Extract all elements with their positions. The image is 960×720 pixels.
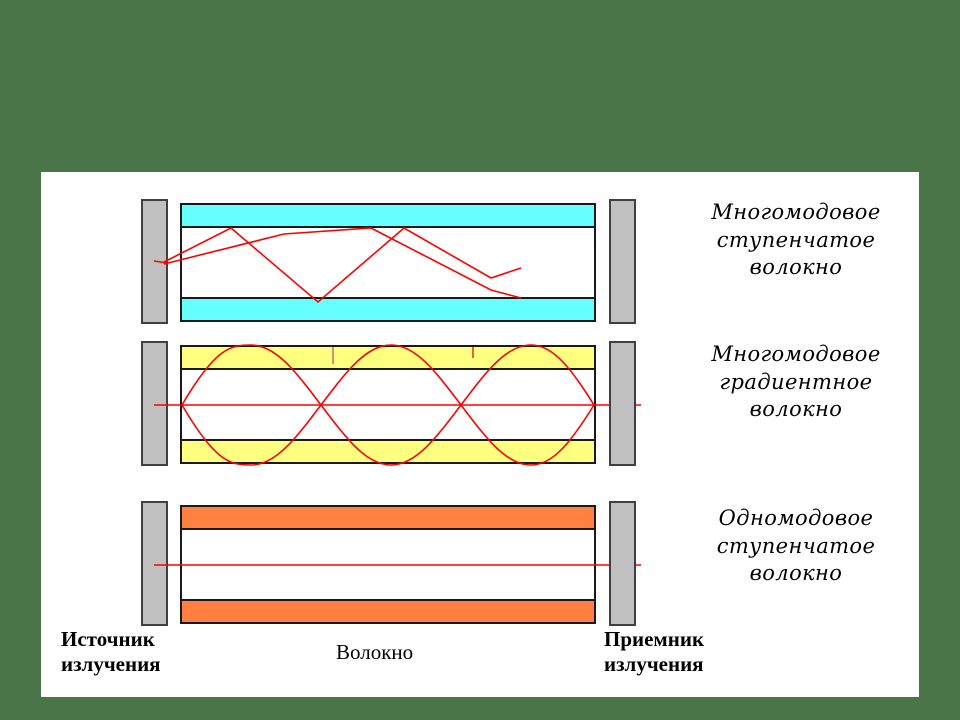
caption-line: волокно: [681, 396, 911, 424]
label-light-detector: Приемник излучения: [604, 627, 794, 677]
slide-canvas: Многомодовое ступенчатое волокно: [0, 0, 960, 720]
caption-line: волокно: [681, 560, 911, 588]
label-line: Источник: [61, 627, 241, 652]
caption-line: волокно: [681, 254, 911, 282]
diagram-panel: Многомодовое ступенчатое волокно: [41, 172, 919, 697]
caption-line: ступенчатое: [681, 227, 911, 255]
caption-line: Многомодовое: [681, 341, 911, 369]
caption-line: ступенчатое: [681, 533, 911, 561]
label-line: излучения: [604, 652, 794, 677]
label-fiber: Волокно: [336, 640, 506, 665]
caption-line: Многомодовое: [681, 199, 911, 227]
label-line: Волокно: [336, 640, 506, 665]
caption-line: Одномодовое: [681, 505, 911, 533]
ray-paths-3: [41, 172, 661, 642]
light-detector-bar-3: [609, 501, 636, 626]
label-light-source: Источник излучения: [61, 627, 241, 677]
label-line: излучения: [61, 652, 241, 677]
caption-line: градиентное: [681, 369, 911, 397]
caption-multimode-step: Многомодовое ступенчатое волокно: [681, 199, 911, 282]
label-line: Приемник: [604, 627, 794, 652]
caption-singlemode-step: Одномодовое ступенчатое волокно: [681, 505, 911, 588]
caption-multimode-graded: Многомодовое градиентное волокно: [681, 341, 911, 424]
